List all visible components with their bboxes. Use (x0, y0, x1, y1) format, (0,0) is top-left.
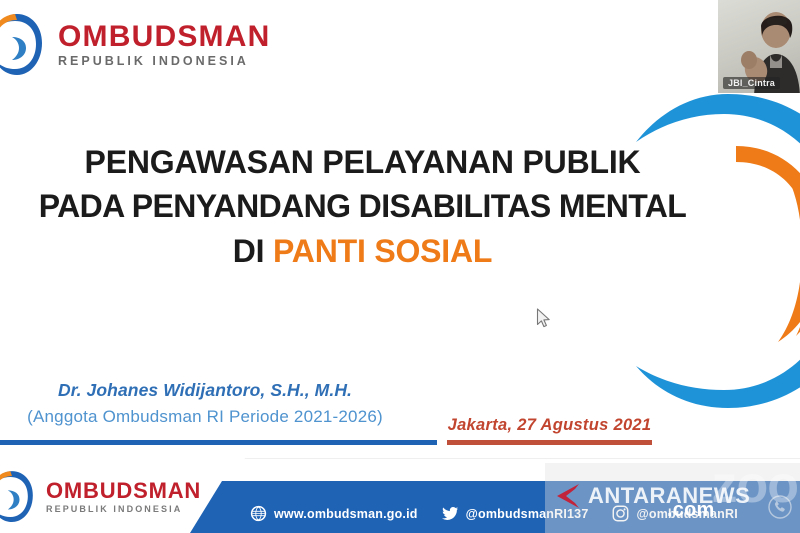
mouse-pointer-icon (536, 308, 553, 330)
header-logo: OMBUDSMAN REPUBLIK INDONESIA (0, 9, 270, 81)
presentation-slide: OMBUDSMAN REPUBLIK INDONESIA PENGAWASAN … (0, 0, 800, 533)
footer-logo: OMBUDSMAN REPUBLIK INDONESIA (0, 467, 201, 527)
ombudsman-swirl-icon (0, 467, 38, 527)
footer-contact-list: www.ombudsman.go.id @ombudsmanRI137 @omb… (250, 505, 738, 522)
speaker-role: (Anggota Ombudsman RI Periode 2021-2026) (0, 407, 410, 427)
footer-website-label: www.ombudsman.go.id (274, 507, 418, 521)
globe-icon (250, 505, 267, 522)
instagram-camera-icon (612, 505, 629, 522)
header-logo-secondary: REPUBLIK INDONESIA (58, 55, 270, 68)
footer-logo-primary: OMBUDSMAN (46, 480, 201, 502)
footer-instagram-label: @ombudsmanRI (636, 507, 737, 521)
speaker-name: Dr. Johanes Widijantoro, S.H., M.H. (0, 380, 410, 401)
ombudsman-swirl-icon (0, 9, 48, 81)
title-line-3-accent: PANTI SOSIAL (273, 233, 492, 269)
footer-logo-secondary: REPUBLIK INDONESIA (46, 505, 201, 514)
title-line-3: DI PANTI SOSIAL (0, 230, 725, 274)
footer-website[interactable]: www.ombudsman.go.id (250, 505, 418, 522)
footer-twitter-label: @ombudsmanRI137 (466, 507, 589, 521)
phone-icon[interactable] (768, 495, 792, 519)
title-line-1: PENGAWASAN PELAYANAN PUBLIK (0, 141, 725, 185)
date-block: Jakarta, 27 Agustus 2021 (447, 416, 652, 435)
header-logo-primary: OMBUDSMAN (58, 22, 270, 52)
speaker-block: Dr. Johanes Widijantoro, S.H., M.H. (Ang… (0, 380, 410, 427)
webcam-tile[interactable]: JBl_Cintra (718, 0, 800, 93)
date-place-text: Jakarta, 27 Agustus 2021 (447, 416, 652, 435)
slide-title: PENGAWASAN PELAYANAN PUBLIK PADA PENYAND… (0, 141, 725, 274)
footer-twitter[interactable]: @ombudsmanRI137 (442, 505, 589, 522)
slide-footer: OMBUDSMAN REPUBLIK INDONESIA www.ombudsm… (0, 445, 800, 533)
footer-instagram[interactable]: @ombudsmanRI (612, 505, 737, 522)
title-line-3-prefix: DI (233, 233, 273, 269)
twitter-bird-icon (442, 505, 459, 522)
title-line-2: PADA PENYANDANG DISABILITAS MENTAL (0, 185, 725, 229)
webcam-participant-label: JBl_Cintra (723, 77, 780, 89)
